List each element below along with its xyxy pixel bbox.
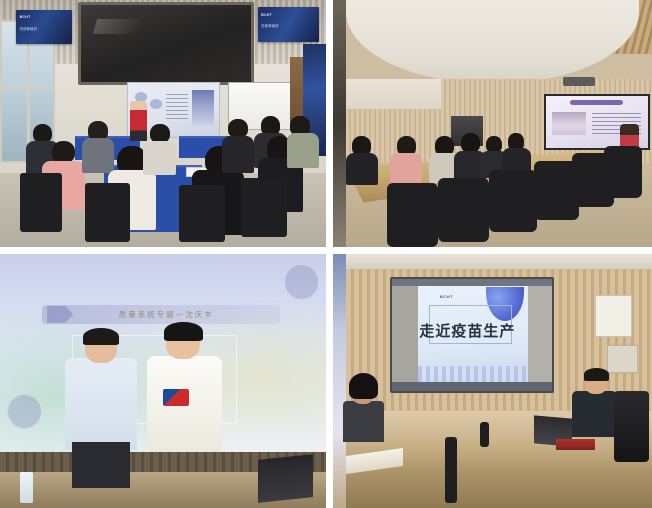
photo-bottom-right-meeting: BCHT 2024年6月 走近疫苗生产 bbox=[333, 254, 652, 508]
photo-top-left-classroom: BCHT 内训师培训 BCHT 内训师培训 bbox=[0, 0, 326, 247]
audience-group bbox=[0, 0, 326, 247]
chair bbox=[489, 170, 537, 232]
tshirt-logo bbox=[163, 389, 189, 407]
chair bbox=[85, 183, 131, 242]
water-bottle bbox=[20, 472, 33, 502]
photo-collage: BCHT 内训师培训 BCHT 内训师培训 bbox=[0, 0, 652, 508]
chair bbox=[179, 185, 225, 242]
chair bbox=[604, 146, 642, 198]
chairs-row bbox=[333, 0, 652, 247]
photo-bottom-left-handshake: 质量系统专题—沈庆丰 bbox=[0, 254, 326, 508]
audience-body bbox=[287, 133, 320, 168]
photo-top-right-boardroom bbox=[333, 0, 652, 247]
hair bbox=[164, 322, 202, 341]
audience-body bbox=[143, 141, 176, 176]
chair bbox=[438, 178, 489, 242]
audience-head bbox=[52, 141, 75, 163]
chair bbox=[387, 183, 438, 247]
audience-body bbox=[222, 136, 255, 173]
audience-body bbox=[82, 138, 115, 173]
shirt bbox=[343, 401, 384, 442]
laptop bbox=[258, 454, 313, 503]
hair bbox=[349, 373, 378, 398]
person-seated-left bbox=[333, 254, 652, 508]
chair bbox=[241, 178, 287, 237]
chair bbox=[20, 173, 62, 232]
